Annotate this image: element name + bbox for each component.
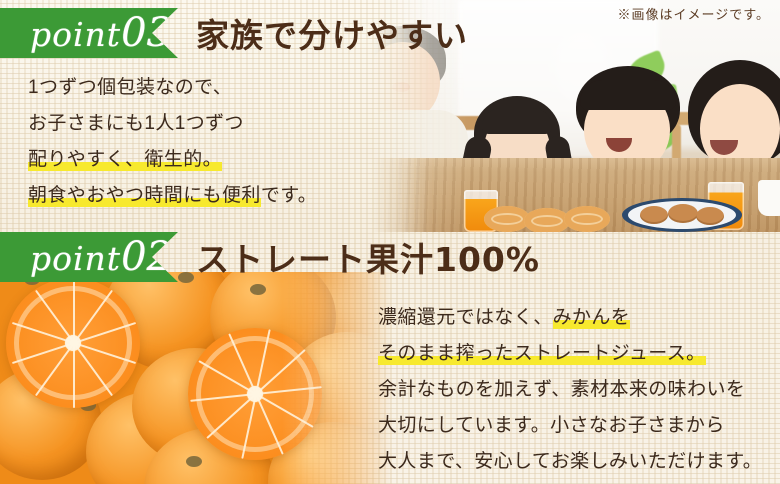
point-02-body: 濃縮還元ではなく、みかんを そのまま搾ったストレートジュース。 余計なものを加え… — [378, 300, 762, 480]
highlighted-text: そのまま搾ったストレートジュース。 — [378, 343, 706, 365]
highlighted-text: 朝食やおやつ時間にも便利 — [28, 185, 261, 207]
cookie-plate — [622, 198, 742, 232]
coffee-cup — [758, 180, 780, 216]
halved-mikan — [188, 328, 322, 460]
mikan-stem — [250, 284, 266, 295]
body-line: 1つずつ個包装なので、 — [28, 70, 317, 106]
body-line: 朝食やおやつ時間にも便利です。 — [28, 178, 317, 214]
point-03-heading: 家族で分けやすい — [196, 9, 468, 57]
mikan-stem — [186, 456, 202, 467]
point-02-ribbon: point02 — [0, 232, 178, 282]
body-line: そのまま搾ったストレートジュース。 — [378, 336, 762, 372]
donut-plate — [484, 206, 614, 232]
point-03-ribbon-label: point03 — [0, 10, 172, 56]
highlighted-text: 配りやすく、衛生的。 — [28, 149, 222, 171]
body-line: 大人まで、安心してお楽しみいただけます。 — [378, 444, 762, 480]
body-line: 濃縮還元ではなく、みかんを — [378, 300, 762, 336]
mikan-stem — [178, 272, 194, 283]
point-02-ribbon-label: point02 — [0, 234, 172, 280]
body-line: 余計なものを加えず、素材本来の味わいを — [378, 372, 762, 408]
body-line: 大切にしています。小さなお子さまから — [378, 408, 762, 444]
point-02-heading: ストレート果汁100% — [196, 233, 540, 281]
point-03-ribbon: point03 — [0, 8, 178, 58]
highlighted-text: みかんを — [553, 307, 631, 329]
body-line: 配りやすく、衛生的。 — [28, 142, 317, 178]
halved-mikan — [6, 278, 140, 408]
body-line: お子さまにも1人1つずつ — [28, 106, 317, 142]
mikan-photo — [0, 272, 392, 484]
advertisement-page: ※画像はイメージです。 point03 家族で分けやすい 1つずつ個包装なので、… — [0, 0, 780, 484]
point-03-body: 1つずつ個包装なので、 お子さまにも1人1つずつ 配りやすく、衛生的。 朝食やお… — [28, 70, 317, 214]
image-disclaimer: ※画像はイメージです。 — [618, 4, 770, 23]
